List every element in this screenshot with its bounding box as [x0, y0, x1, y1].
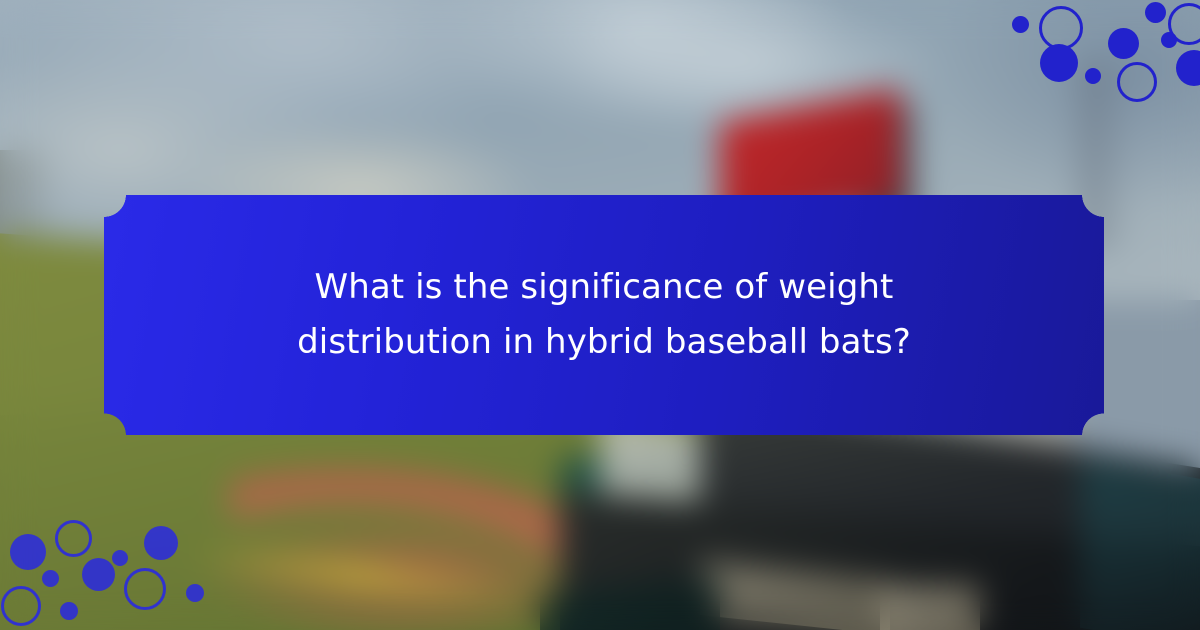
decorative-dot-filled: [186, 584, 204, 602]
decorative-dot-filled: [1040, 44, 1078, 82]
question-card: What is the significance of weight distr…: [104, 195, 1104, 435]
decorative-dot-filled: [42, 570, 59, 587]
decorative-dot-ring: [1, 586, 41, 626]
decorative-dot-filled: [1176, 50, 1200, 86]
decorative-dot-filled: [112, 550, 128, 566]
decorative-dot-filled: [10, 534, 46, 570]
decorative-dot-filled: [60, 602, 78, 620]
decorative-dot-filled: [1145, 2, 1166, 23]
decorative-dot-filled: [1085, 68, 1101, 84]
decorative-dot-ring: [1117, 62, 1157, 102]
decorative-dots-top-right: [1000, 0, 1200, 110]
question-text: What is the significance of weight distr…: [284, 260, 924, 370]
decorative-dot-ring: [124, 568, 166, 610]
decorative-dot-filled: [82, 558, 115, 591]
decorative-dot-filled: [1012, 16, 1029, 33]
decorative-dot-filled: [144, 526, 178, 560]
decorative-dot-filled: [1108, 28, 1139, 59]
decorative-dot-ring: [55, 520, 92, 557]
decorative-dots-bottom-left: [0, 510, 210, 630]
